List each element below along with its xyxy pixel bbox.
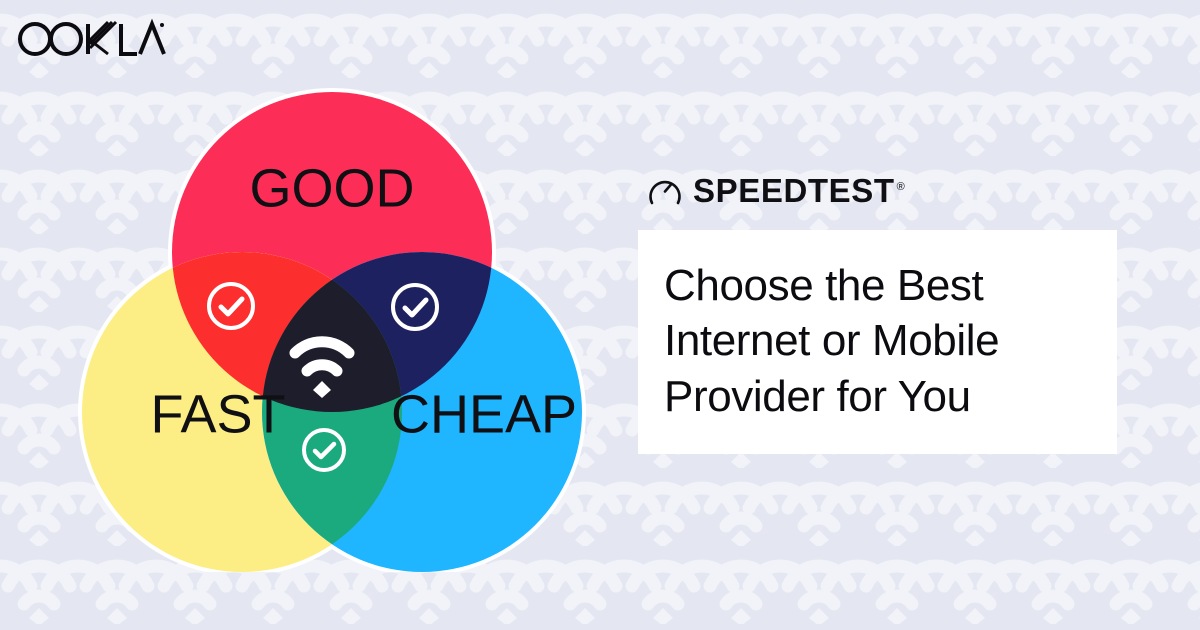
speedtest-wordmark: SPEEDTEST®: [693, 174, 905, 207]
speedtest-wordmark-text: SPEEDTEST: [693, 172, 895, 209]
headline-line-2: Internet or Mobile: [664, 316, 999, 365]
headline-line-1: Choose the Best: [664, 261, 983, 310]
venn-label-fast: FAST: [150, 384, 285, 444]
headline-card: Choose the Best Internet or Mobile Provi…: [638, 230, 1117, 454]
venn-label-cheap: CHEAP: [391, 384, 577, 444]
ookla-logo: [16, 16, 166, 62]
venn-label-good: GOOD: [249, 158, 414, 218]
headline-line-3: Provider for You: [664, 372, 971, 421]
speedometer-gauge-icon: [648, 173, 682, 207]
right-column: SPEEDTEST® Choose the Best Internet or M…: [638, 168, 1120, 454]
speedtest-trademark: ®: [897, 181, 906, 193]
speedtest-logo: SPEEDTEST®: [648, 168, 1120, 212]
promo-banner: GOOD FAST CHEAP: [0, 0, 1200, 630]
venn-diagram: GOOD FAST CHEAP: [52, 62, 612, 572]
page-title: Choose the Best Internet or Mobile Provi…: [664, 258, 1087, 424]
